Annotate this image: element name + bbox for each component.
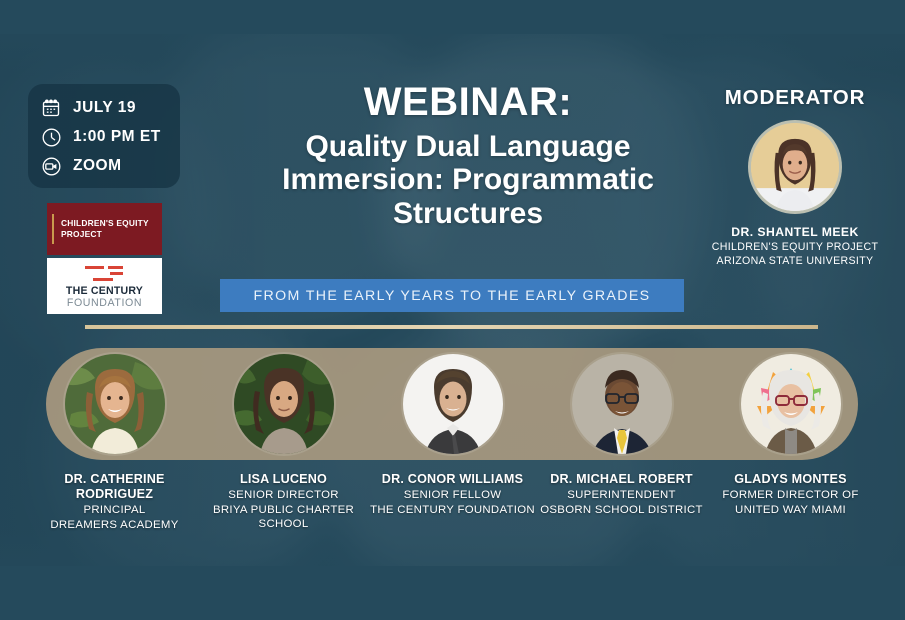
- logo-accent-bar: [52, 214, 54, 244]
- tagline-text: FROM THE EARLY YEARS TO THE EARLY GRADES: [254, 288, 651, 304]
- speaker-card: DR. MICHAEL ROBERT SUPERINTENDENT OSBORN…: [537, 352, 706, 532]
- speaker-org: OSBORN SCHOOL DISTRICT: [537, 503, 706, 518]
- moderator-name: DR. SHANTEL MEEK: [700, 225, 890, 239]
- moderator-block: MODERATOR DR. SHANTEL MEEK CHILDREN'S EQ…: [700, 86, 890, 268]
- speaker-role: SUPERINTENDENT: [537, 488, 706, 503]
- childrens-equity-project-logo: CHILDREN'S EQUITY PROJECT: [47, 203, 162, 255]
- speaker-avatar: [232, 352, 336, 456]
- speaker-card: LISA LUCENO SENIOR DIRECTOR BRIYA PUBLIC…: [199, 352, 368, 532]
- speaker-role: FORMER DIRECTOR OF: [706, 488, 875, 503]
- cep-logo-text: CHILDREN'S EQUITY PROJECT: [61, 218, 149, 240]
- speaker-name: DR. CONOR WILLIAMS: [368, 472, 537, 487]
- tagline-banner: FROM THE EARLY YEARS TO THE EARLY GRADES: [220, 279, 684, 312]
- speaker-avatar: [739, 352, 843, 456]
- tcf-logo-line1: THE CENTURY: [66, 286, 143, 298]
- event-platform-text: ZOOM: [73, 157, 122, 175]
- webinar-headline: Quality Dual Language Immersion: Program…: [228, 130, 708, 231]
- title-block: WEBINAR: Quality Dual Language Immersion…: [228, 82, 708, 231]
- speaker-role: PRINCIPAL: [30, 503, 199, 518]
- video-camera-icon: [38, 153, 64, 179]
- speaker-org: UNITED WAY MIAMI: [706, 503, 875, 518]
- top-frame-bar: [0, 0, 905, 34]
- calendar-icon: [38, 95, 64, 121]
- speaker-org: BRIYA PUBLIC CHARTER SCHOOL: [199, 503, 368, 532]
- speaker-name: LISA LUCENO: [199, 472, 368, 487]
- speaker-org: DREAMERS ACADEMY: [30, 518, 199, 533]
- speaker-role: SENIOR FELLOW: [368, 488, 537, 503]
- event-detail-time: 1:00 PM ET: [38, 123, 180, 151]
- speaker-name: DR. CATHERINE RODRIGUEZ: [30, 472, 199, 502]
- cep-logo-line1: CHILDREN'S EQUITY: [61, 218, 149, 228]
- speaker-name: DR. MICHAEL ROBERT: [537, 472, 706, 487]
- webinar-kicker: WEBINAR:: [228, 82, 708, 123]
- speaker-avatar: [570, 352, 674, 456]
- speaker-avatar: [401, 352, 505, 456]
- webinar-promo-poster: JULY 19 1:00 PM ET ZOOM: [0, 0, 905, 620]
- event-detail-date: JULY 19: [38, 94, 180, 122]
- clock-icon: [38, 124, 64, 150]
- speaker-card: GLADYS MONTES FORMER DIRECTOR OF UNITED …: [706, 352, 875, 532]
- tcf-logo-line2: FOUNDATION: [67, 298, 142, 310]
- section-divider: [85, 325, 818, 329]
- moderator-label: MODERATOR: [700, 86, 890, 110]
- event-details-panel: JULY 19 1:00 PM ET ZOOM: [28, 84, 180, 188]
- century-foundation-logo: THE CENTURY FOUNDATION: [47, 258, 162, 314]
- speaker-card: DR. CATHERINE RODRIGUEZ PRINCIPAL DREAME…: [30, 352, 199, 532]
- speaker-role: SENIOR DIRECTOR: [199, 488, 368, 503]
- cep-logo-line2: PROJECT: [61, 229, 102, 239]
- bottom-frame-bar: [0, 566, 905, 620]
- speaker-name: GLADYS MONTES: [706, 472, 875, 487]
- speaker-card: DR. CONOR WILLIAMS SENIOR FELLOW THE CEN…: [368, 352, 537, 532]
- century-foundation-mark-icon: [79, 265, 131, 283]
- speakers-row: DR. CATHERINE RODRIGUEZ PRINCIPAL DREAME…: [30, 352, 875, 532]
- moderator-org-line2: ARIZONA STATE UNIVERSITY: [717, 255, 874, 267]
- moderator-avatar: [748, 120, 842, 214]
- speaker-org: THE CENTURY FOUNDATION: [368, 503, 537, 518]
- event-detail-platform: ZOOM: [38, 152, 180, 180]
- moderator-org-line1: CHILDREN'S EQUITY PROJECT: [712, 241, 879, 253]
- event-time-text: 1:00 PM ET: [73, 128, 161, 146]
- speaker-avatar: [63, 352, 167, 456]
- moderator-org: CHILDREN'S EQUITY PROJECT ARIZONA STATE …: [700, 241, 890, 268]
- event-date-text: JULY 19: [73, 99, 136, 117]
